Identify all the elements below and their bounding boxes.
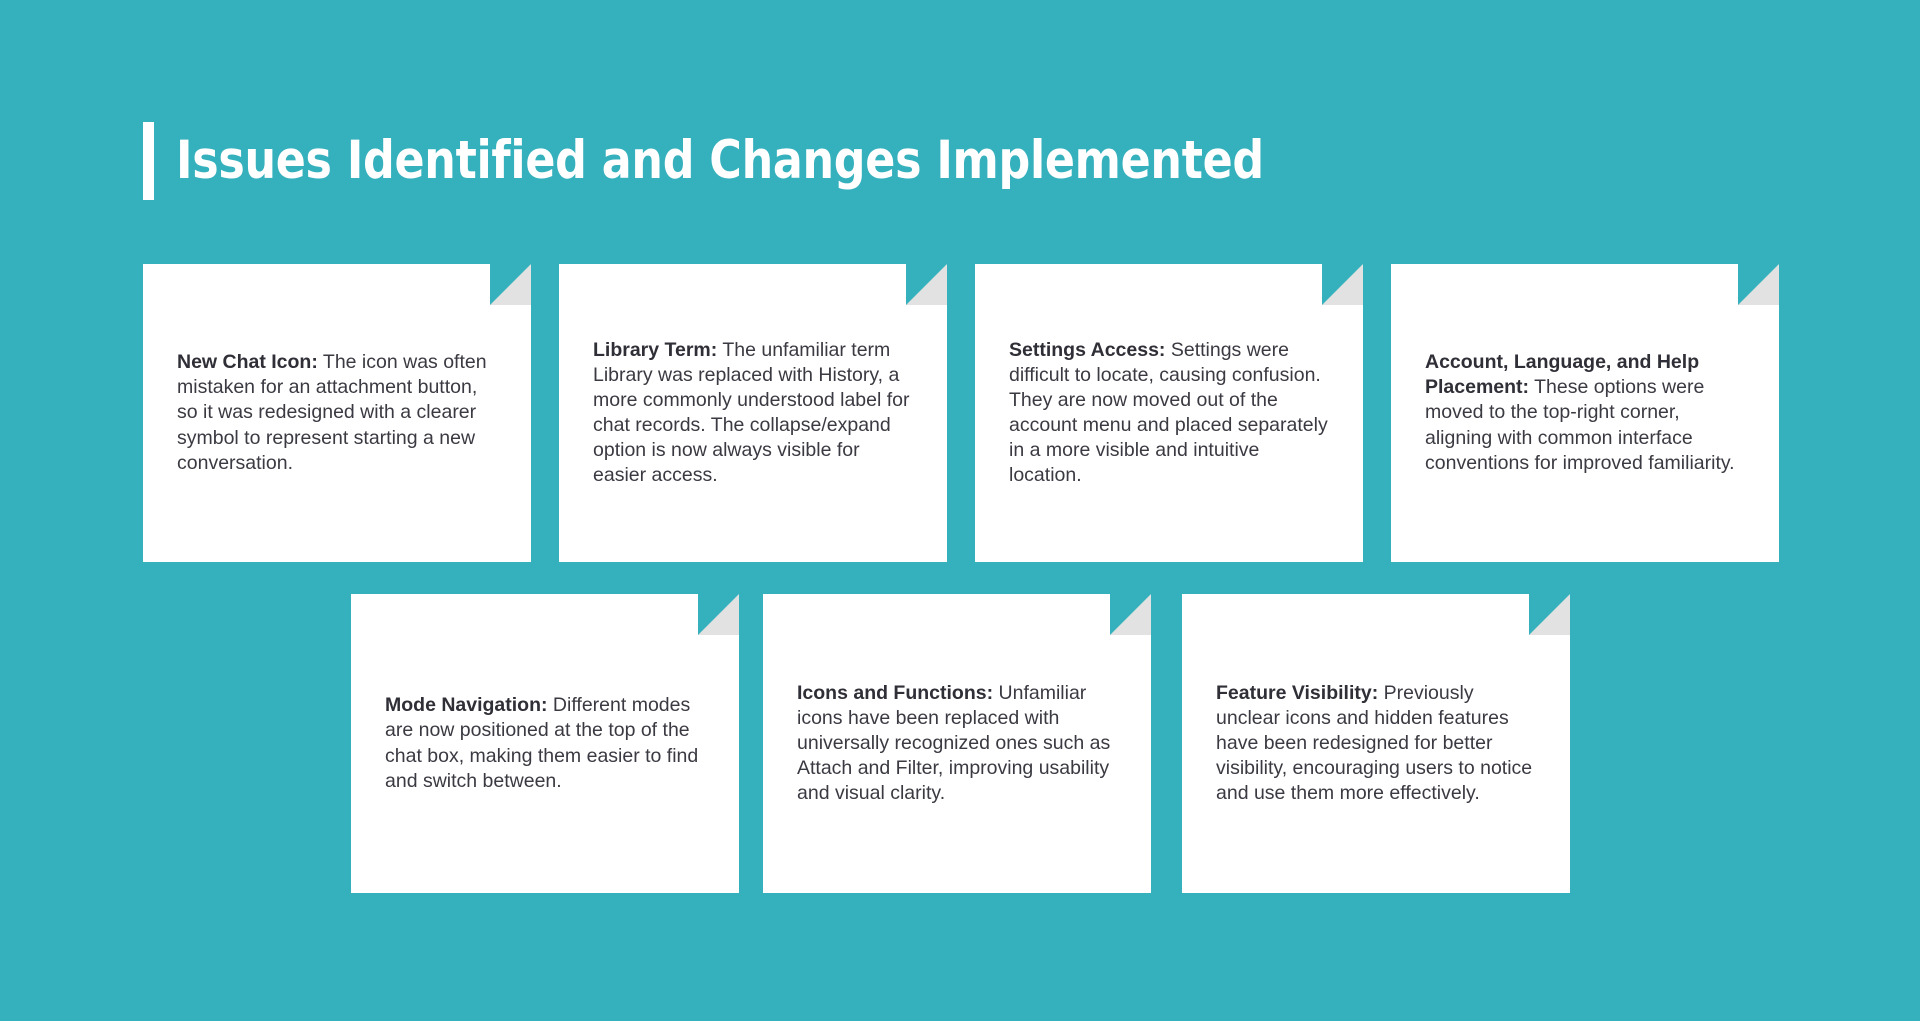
card-account-language-help-placement[interactable]: Account, Language, and Help Placement: T… bbox=[1391, 264, 1779, 562]
corner-fold-cut-icon bbox=[1738, 264, 1779, 305]
card-lead-label: Feature Visibility: bbox=[1216, 682, 1378, 704]
card-text: New Chat Icon: The icon was often mistak… bbox=[177, 350, 497, 476]
corner-fold-cut-icon bbox=[1110, 594, 1151, 635]
cards-grid: New Chat Icon: The icon was often mistak… bbox=[0, 0, 1920, 1021]
corner-fold-cut-icon bbox=[906, 264, 947, 305]
corner-fold-icon bbox=[1738, 264, 1779, 305]
corner-fold-icon bbox=[1110, 594, 1151, 635]
card-library-term[interactable]: Library Term: The unfamiliar term Librar… bbox=[559, 264, 947, 562]
card-text: Account, Language, and Help Placement: T… bbox=[1425, 350, 1745, 476]
card-icons-and-functions[interactable]: Icons and Functions: Unfamiliar icons ha… bbox=[763, 594, 1151, 893]
corner-fold-cut-icon bbox=[1322, 264, 1363, 305]
card-mode-navigation[interactable]: Mode Navigation: Different modes are now… bbox=[351, 594, 739, 893]
card-new-chat-icon[interactable]: New Chat Icon: The icon was often mistak… bbox=[143, 264, 531, 562]
corner-fold-icon bbox=[1529, 594, 1570, 635]
card-lead-label: Mode Navigation: bbox=[385, 694, 548, 716]
corner-fold-icon bbox=[1322, 264, 1363, 305]
card-text: Library Term: The unfamiliar term Librar… bbox=[593, 338, 913, 489]
card-lead-label: New Chat Icon: bbox=[177, 351, 318, 373]
card-lead-label: Settings Access: bbox=[1009, 339, 1165, 361]
card-text: Icons and Functions: Unfamiliar icons ha… bbox=[797, 681, 1117, 807]
corner-fold-icon bbox=[906, 264, 947, 305]
corner-fold-cut-icon bbox=[490, 264, 531, 305]
corner-fold-cut-icon bbox=[1529, 594, 1570, 635]
card-text: Settings Access: Settings were difficult… bbox=[1009, 338, 1329, 489]
card-text: Mode Navigation: Different modes are now… bbox=[385, 693, 705, 794]
card-feature-visibility[interactable]: Feature Visibility: Previously unclear i… bbox=[1182, 594, 1570, 893]
card-text: Feature Visibility: Previously unclear i… bbox=[1216, 681, 1536, 807]
corner-fold-icon bbox=[698, 594, 739, 635]
card-lead-label: Library Term: bbox=[593, 339, 717, 361]
corner-fold-icon bbox=[490, 264, 531, 305]
card-lead-label: Icons and Functions: bbox=[797, 682, 993, 704]
corner-fold-cut-icon bbox=[698, 594, 739, 635]
card-settings-access[interactable]: Settings Access: Settings were difficult… bbox=[975, 264, 1363, 562]
